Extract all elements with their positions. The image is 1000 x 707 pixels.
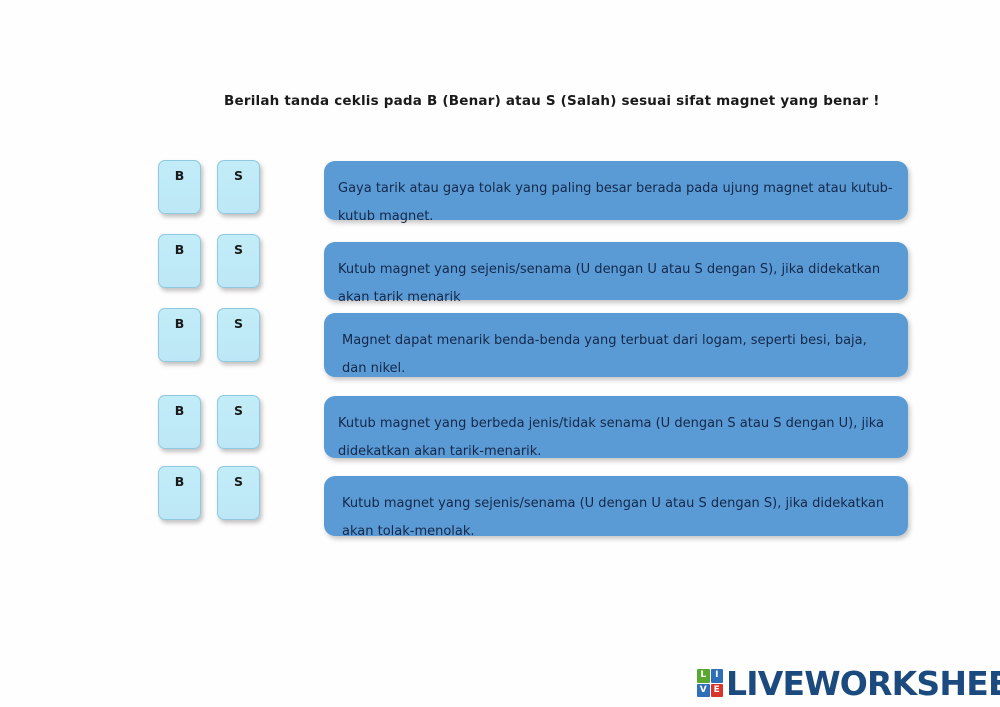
statement-line: kutub magnet. xyxy=(338,203,892,231)
option-salah-label: S xyxy=(218,242,259,257)
statement-line: Gaya tarik atau gaya tolak yang paling b… xyxy=(338,175,892,203)
option-benar-1[interactable]: B xyxy=(158,160,201,214)
option-salah-label: S xyxy=(218,474,259,489)
option-benar-5[interactable]: B xyxy=(158,466,201,520)
option-salah-3[interactable]: S xyxy=(217,308,260,362)
option-benar-label: B xyxy=(159,242,200,257)
logo-wordmark: LIVEWORKSHEETS xyxy=(726,667,1000,700)
statement-box-5: Kutub magnet yang sejenis/senama (U deng… xyxy=(324,476,908,536)
option-benar-label: B xyxy=(159,168,200,183)
statement-box-4: Kutub magnet yang berbeda jenis/tidak se… xyxy=(324,396,908,458)
option-salah-2[interactable]: S xyxy=(217,234,260,288)
option-salah-5[interactable]: S xyxy=(217,466,260,520)
statement-line: Kutub magnet yang berbeda jenis/tidak se… xyxy=(338,410,892,438)
logo-cell-l: L xyxy=(697,669,710,683)
option-benar-label: B xyxy=(159,316,200,331)
option-salah-label: S xyxy=(218,403,259,418)
statement-box-1: Gaya tarik atau gaya tolak yang paling b… xyxy=(324,161,908,220)
option-benar-label: B xyxy=(159,474,200,489)
statement-box-2: Kutub magnet yang sejenis/senama (U deng… xyxy=(324,242,908,300)
statement-line: akan tarik menarik xyxy=(338,284,892,312)
worksheet-page: Berilah tanda ceklis pada B (Benar) atau… xyxy=(0,0,1000,707)
option-benar-4[interactable]: B xyxy=(158,395,201,449)
live-logo-mark-icon: L I V E xyxy=(697,669,723,697)
statement-line: Kutub magnet yang sejenis/senama (U deng… xyxy=(338,490,892,518)
option-benar-3[interactable]: B xyxy=(158,308,201,362)
option-salah-label: S xyxy=(218,316,259,331)
page-title: Berilah tanda ceklis pada B (Benar) atau… xyxy=(224,93,844,109)
logo-cell-e: E xyxy=(711,684,724,698)
statement-line: Kutub magnet yang sejenis/senama (U deng… xyxy=(338,256,892,284)
option-benar-label: B xyxy=(159,403,200,418)
statement-line: dan nikel. xyxy=(338,355,892,383)
statement-line: Magnet dapat menarik benda-benda yang te… xyxy=(338,327,892,355)
statement-line: akan tolak-menolak. xyxy=(338,518,892,546)
statement-line: didekatkan akan tarik-menarik. xyxy=(338,438,892,466)
logo-cell-i: I xyxy=(711,669,724,683)
logo-cell-v: V xyxy=(697,684,710,698)
option-salah-label: S xyxy=(218,168,259,183)
option-salah-4[interactable]: S xyxy=(217,395,260,449)
liveworksheets-logo: L I V E LIVEWORKSHEETS xyxy=(697,662,1000,704)
option-benar-2[interactable]: B xyxy=(158,234,201,288)
statement-box-3: Magnet dapat menarik benda-benda yang te… xyxy=(324,313,908,377)
option-salah-1[interactable]: S xyxy=(217,160,260,214)
